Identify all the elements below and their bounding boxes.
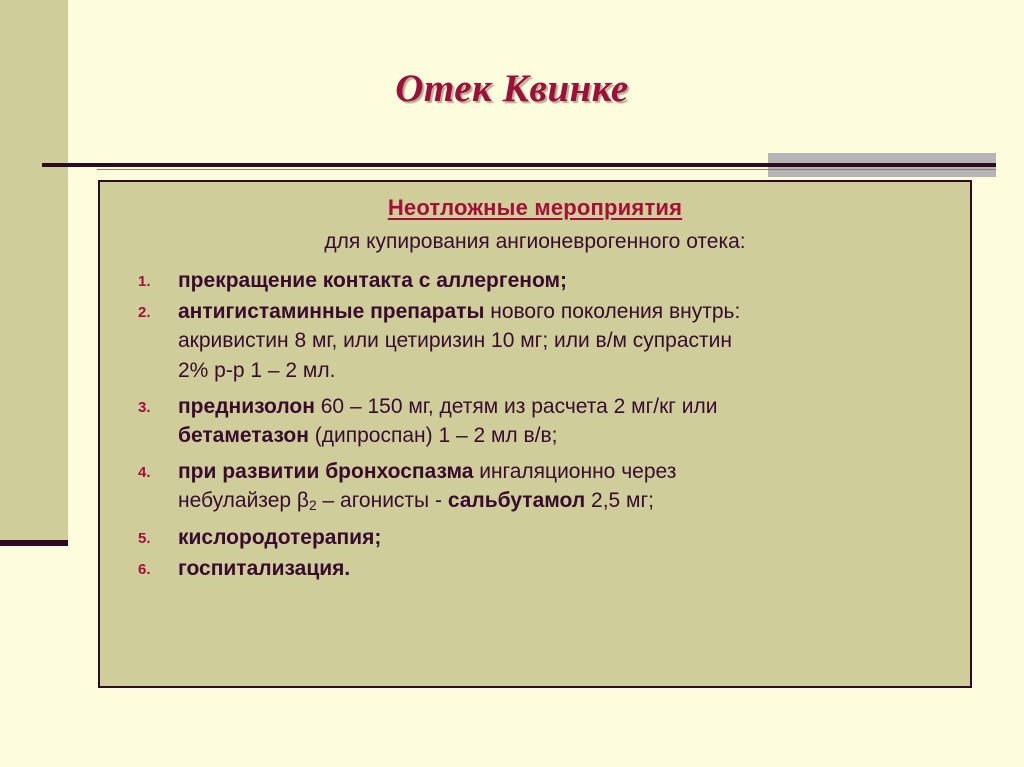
content-box: Неотложные мероприятия для купирования а… [98,180,972,688]
list-item-line: при развитии бронхоспазма ингаляционно ч… [178,457,952,486]
emphasis-text: антигистаминные препараты [178,300,490,323]
list-item-line: госпитализация. [178,554,952,583]
decorative-left-band-rule [0,540,68,546]
list-item: 3.преднизолон 60 – 150 мг, детям из расч… [100,392,970,450]
emphasis-text: прекращение контакта с аллергеном; [178,269,567,292]
emphasis-text: при развитии бронхоспазма [178,460,479,483]
content-heading: Неотложные мероприятия [100,195,970,221]
list-item-number: 4. [138,464,164,481]
list-item-text: госпитализация. [178,554,952,583]
list-item: 2.антигистаминные препараты нового покол… [100,297,970,385]
emphasis-text: преднизолон [178,395,321,418]
body-text: – агонисты - [317,489,448,512]
body-text: нового поколения внутрь: [490,300,740,323]
body-text: 2% р-р 1 – 2 мл. [178,359,335,382]
list-item-number: 1. [138,273,164,290]
list-item-line: акривистин 8 мг, или цетиризин 10 мг; ил… [178,326,952,355]
list-item-text: прекращение контакта с аллергеном; [178,266,952,295]
header-divider-rule [42,163,996,167]
body-text: 2 [309,497,317,513]
list-item-line: прекращение контакта с аллергеном; [178,266,952,295]
list-item-text: антигистаминные препараты нового поколен… [178,297,952,385]
list-item-text: кислородотерапия; [178,523,952,552]
list-item-line: бетаметазон (дипроспан) 1 – 2 мл в/в; [178,421,952,450]
list-item-line: кислородотерапия; [178,523,952,552]
list-item-text: преднизолон 60 – 150 мг, детям из расчет… [178,392,952,450]
body-text: акривистин 8 мг, или цетиризин 10 мг; ил… [178,329,732,352]
steps-list: 1.прекращение контакта с аллергеном;2.ан… [100,266,970,583]
list-item: 6.госпитализация. [100,554,970,583]
list-item: 4.при развитии бронхоспазма ингаляционно… [100,457,970,515]
list-item-number: 2. [138,304,164,321]
emphasis-text: бетаметазон [178,424,315,447]
list-item-number: 3. [138,399,164,416]
list-item: 5.кислородотерапия; [100,523,970,552]
list-item-number: 6. [138,561,164,578]
body-text: 60 – 150 мг, детям из расчета 2 мг/кг ил… [321,395,718,418]
list-item-line: 2% р-р 1 – 2 мл. [178,356,952,385]
body-text: небулайзер β [178,489,309,512]
page-title: Отек Квинке [0,66,1024,111]
body-text: (дипроспан) 1 – 2 мл в/в; [315,424,558,447]
list-item: 1.прекращение контакта с аллергеном; [100,266,970,295]
emphasis-text: кислородотерапия; [178,526,381,549]
content-subheading: для купирования ангионеврогенного отека: [100,230,970,254]
emphasis-text: сальбутамол [448,489,591,512]
emphasis-text: госпитализация. [178,557,350,580]
body-text: 2,5 мг; [591,489,654,512]
header-divider-rule-thin [97,169,996,170]
list-item-number: 5. [138,530,164,547]
list-item-text: при развитии бронхоспазма ингаляционно ч… [178,457,952,515]
list-item-line: антигистаминные препараты нового поколен… [178,297,952,326]
body-text: ингаляционно через [479,460,676,483]
list-item-line: преднизолон 60 – 150 мг, детям из расчет… [178,392,952,421]
list-item-line: небулайзер β2 – агонисты - сальбутамол 2… [178,486,952,515]
